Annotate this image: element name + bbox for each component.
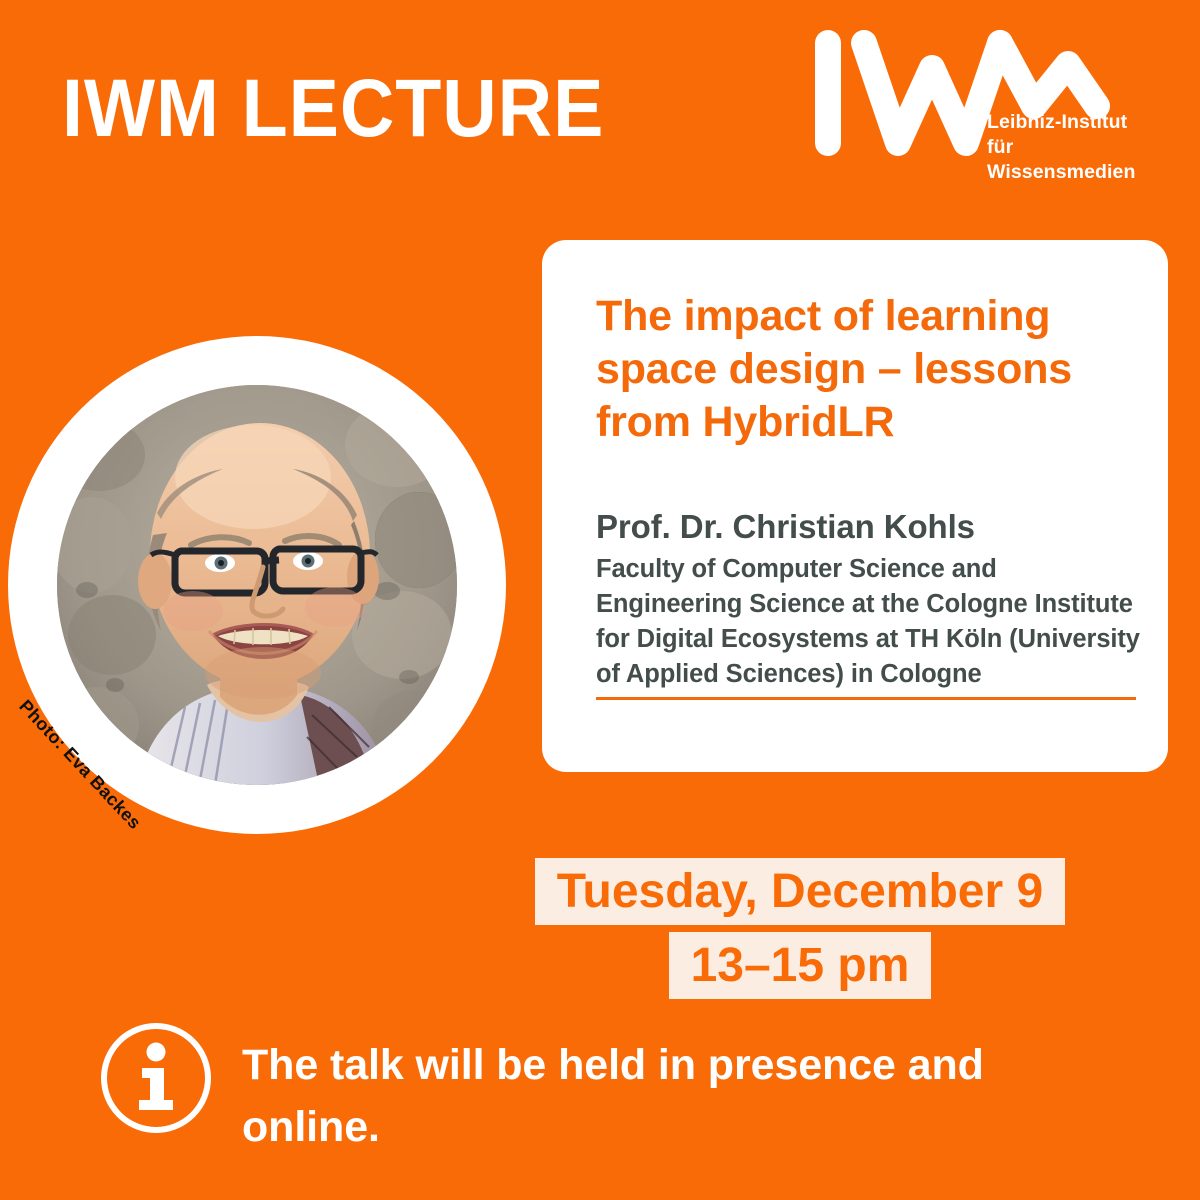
speaker-affiliation: Faculty of Computer Science and Engineer… xyxy=(596,552,1141,692)
iwm-logo-wordmark: Leibniz-Institut für Wissensmedien xyxy=(987,110,1157,185)
attendance-note: The talk will be held in presence and on… xyxy=(96,1016,1106,1158)
talk-title: The impact of learning space design – le… xyxy=(596,290,1116,449)
portrait-photo xyxy=(57,385,457,785)
speaker-block: Prof. Dr. Christian Kohls Faculty of Com… xyxy=(596,506,1141,692)
event-date: Tuesday, December 9 xyxy=(535,858,1065,925)
logo-wordmark-line2: Wissensmedien xyxy=(987,160,1157,185)
info-circle-icon xyxy=(96,1018,216,1138)
logo-wordmark-line1: Leibniz-Institut für xyxy=(987,110,1157,160)
lecture-poster: IWM LECTURE Leibniz-Institut für Wissens… xyxy=(0,0,1200,1200)
card-divider xyxy=(596,697,1136,700)
event-time: 13–15 pm xyxy=(669,932,932,999)
event-datetime: Tuesday, December 9 13–15 pm xyxy=(430,855,1170,1003)
portrait-image xyxy=(57,385,457,785)
speaker-portrait: Photo: Eva Backes xyxy=(8,336,506,834)
attendance-note-text: The talk will be held in presence and on… xyxy=(242,1034,1002,1158)
iwm-logo: Leibniz-Institut für Wissensmedien xyxy=(812,28,1152,168)
speaker-name: Prof. Dr. Christian Kohls xyxy=(596,506,1141,548)
page-title: IWM LECTURE xyxy=(62,66,604,152)
talk-info-card: The impact of learning space design – le… xyxy=(542,240,1168,772)
